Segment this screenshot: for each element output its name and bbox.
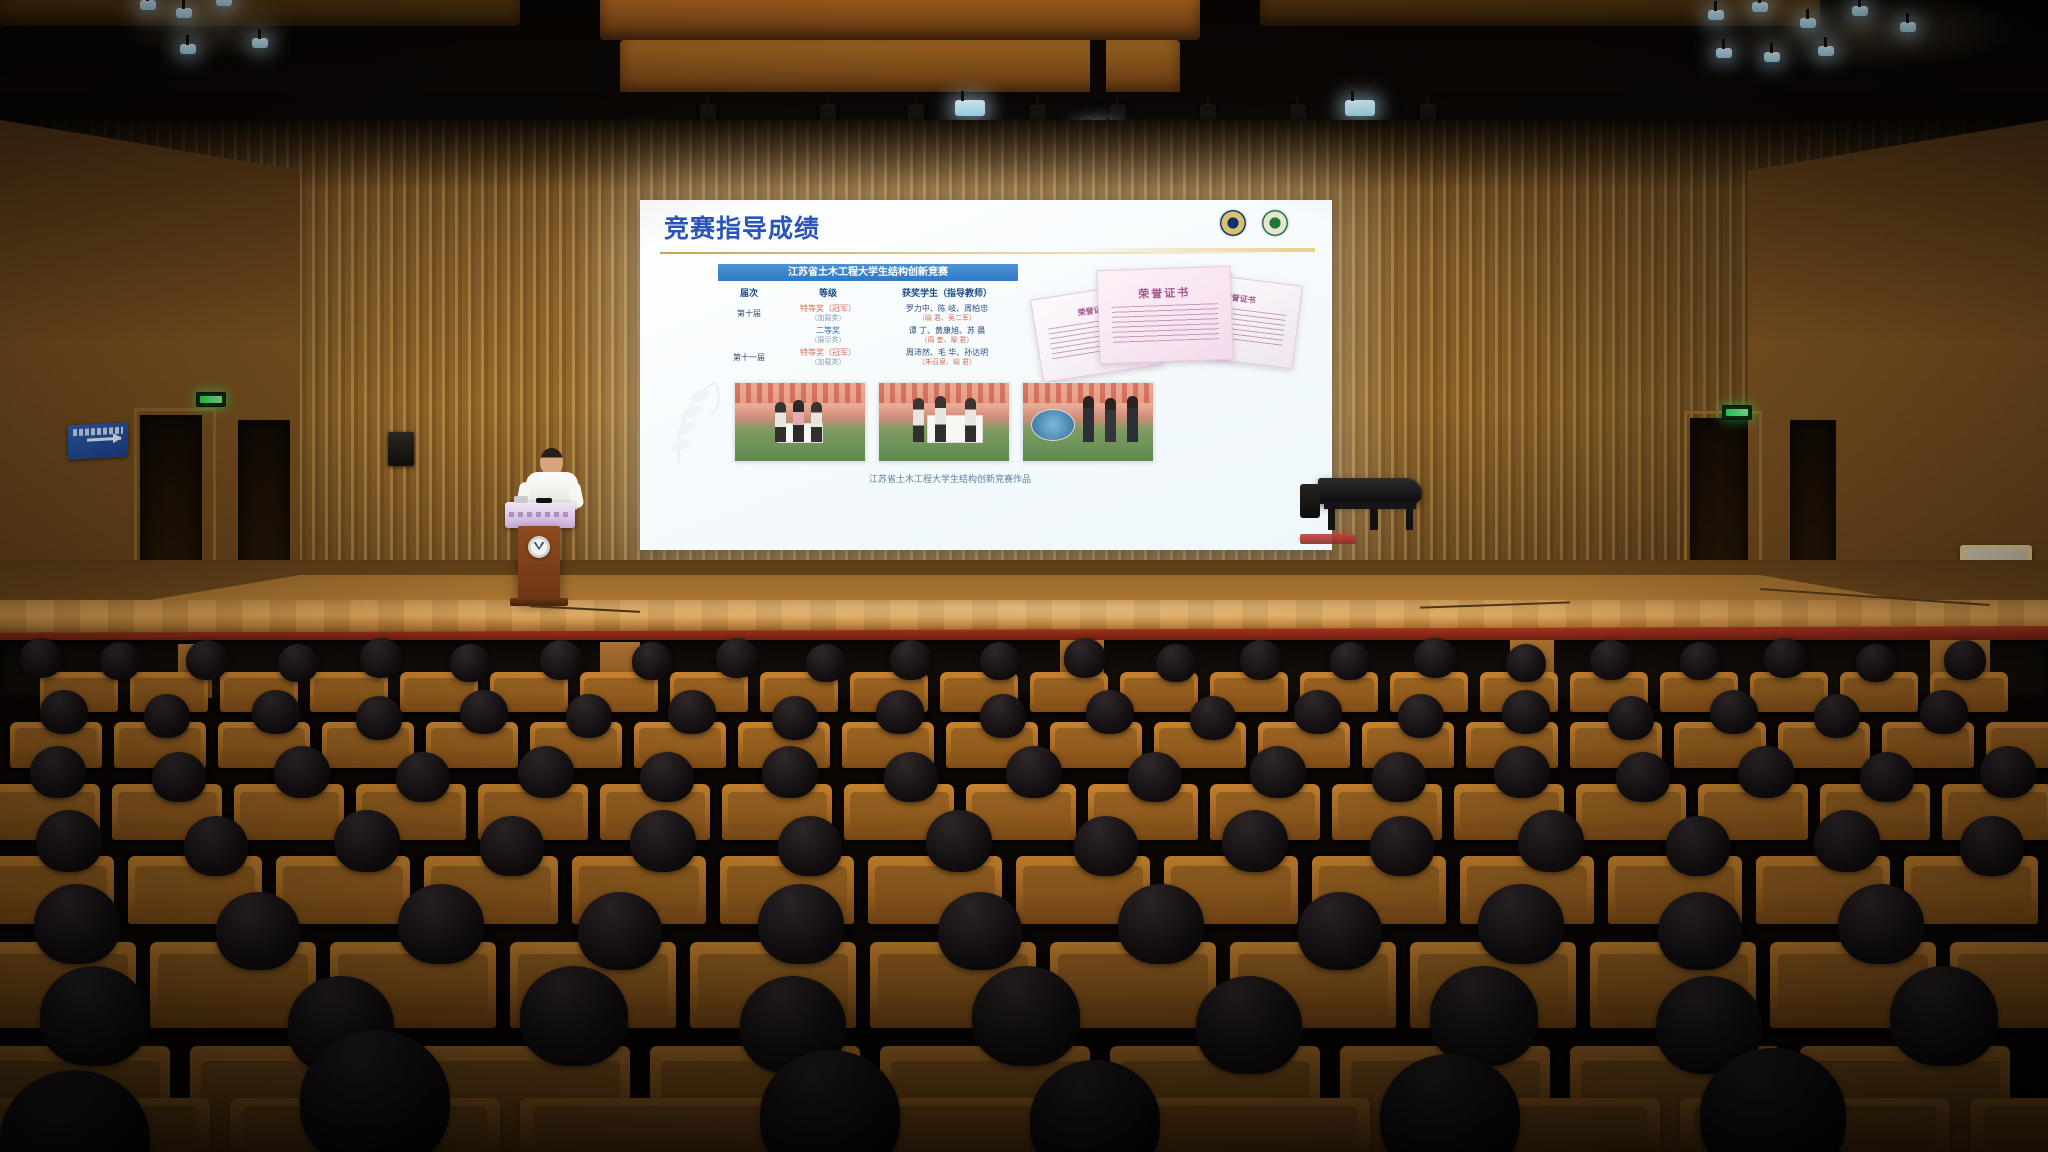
row-students-cell: 谭 丁、黄康旭、苏 晨 （周 奎、喻 君）	[876, 326, 1018, 345]
row-advisors: （朱召泉、喻 君）	[876, 358, 1018, 367]
spotlight-lit	[1345, 100, 1375, 116]
wall-loudspeaker	[388, 432, 414, 466]
projection-screen: 竞赛指导成绩 江苏省土木工程大学生结构创新竞赛 届次 等级 获奖学生（指导教师）…	[640, 200, 1332, 550]
doorway-right-2	[1790, 420, 1836, 578]
table-col-grade: 等级	[780, 285, 876, 301]
certificate-title: 荣誉证书	[1098, 283, 1230, 304]
grand-piano	[1318, 478, 1422, 530]
results-table: 江苏省土木工程大学生结构创新竞赛 届次 等级 获奖学生（指导教师） 第十届 特等…	[718, 264, 1018, 367]
doorway-left-2	[238, 420, 290, 580]
table-banner: 江苏省土木工程大学生结构创新竞赛	[718, 264, 1018, 281]
row-grade-cell: 特等奖（冠军） （加载类）	[780, 304, 876, 323]
row-grade-cell: 二等奖 （展示类）	[780, 326, 876, 345]
certificate-group: 荣誉证书 荣誉证书 荣誉证书	[1036, 266, 1296, 386]
arrow-right-icon	[87, 437, 121, 442]
certificate-lines	[1112, 303, 1219, 343]
row-grade: 特等奖（冠军）	[780, 348, 876, 358]
competition-photo	[734, 382, 866, 462]
auditorium-photo: 竞赛指导成绩 江苏省土木工程大学生结构创新竞赛 届次 等级 获奖学生（指导教师）…	[0, 0, 2048, 1152]
table-header-row: 届次 等级 获奖学生（指导教师）	[718, 285, 1018, 301]
stage-mat	[1300, 534, 1356, 544]
podium-nameplate	[509, 512, 571, 517]
microphone[interactable]	[536, 498, 552, 503]
table-col-students: 获奖学生（指导教师）	[876, 285, 1018, 301]
table-row: 第十届 特等奖（冠军） （加载类） 罗力中、陈 岐、周柏忠 （喻 君、吴二军）	[718, 304, 1018, 323]
title-divider	[660, 252, 1300, 254]
laurel-wreath-icon	[662, 376, 730, 472]
exit-sign	[196, 392, 226, 407]
direction-sign	[68, 422, 128, 459]
row-students: 周沛然、毛 华、孙达明	[876, 348, 1018, 358]
audience-area	[0, 660, 2048, 1152]
photo-caption: 江苏省土木工程大学生结构创新竞赛作品	[700, 472, 1200, 485]
university-seal-icon-blue	[1220, 210, 1246, 236]
presenter-group	[500, 440, 630, 610]
row-category: （加载类）	[780, 314, 876, 323]
presenter-head	[540, 448, 563, 475]
row-category: （加载类）	[780, 358, 876, 367]
podium-top	[505, 502, 575, 528]
spotlight-lit	[955, 100, 985, 116]
laptop[interactable]	[514, 496, 528, 503]
row-grade-cell: 特等奖（冠军） （加载类）	[780, 348, 876, 367]
row-students: 罗力中、陈 岐、周柏忠	[876, 304, 1018, 314]
row-grade: 特等奖（冠军）	[780, 304, 876, 314]
row-students-cell: 罗力中、陈 岐、周柏忠 （喻 君、吴二军）	[876, 304, 1018, 323]
competition-photo	[1022, 382, 1154, 462]
university-seal-icon-green	[1262, 210, 1288, 236]
row-grade: 二等奖	[780, 326, 876, 336]
certificate: 荣誉证书	[1096, 266, 1233, 365]
row-advisors: （周 奎、喻 君）	[876, 336, 1018, 345]
row-advisors: （喻 君、吴二军）	[876, 314, 1018, 323]
title-accent	[1070, 248, 1315, 252]
podium-emblem	[528, 536, 550, 558]
table-col-session: 届次	[718, 285, 780, 301]
row-session: 第十届	[718, 308, 780, 319]
row-students-cell: 周沛然、毛 华、孙达明 （朱召泉、喻 君）	[876, 348, 1018, 367]
row-category: （展示类）	[780, 336, 876, 345]
table-row: 二等奖 （展示类） 谭 丁、黄康旭、苏 晨 （周 奎、喻 君）	[718, 326, 1018, 345]
competition-photo	[878, 382, 1010, 462]
row-students: 谭 丁、黄康旭、苏 晨	[876, 326, 1018, 336]
slide-title: 竞赛指导成绩	[664, 214, 820, 244]
table-row: 第十一届 特等奖（冠军） （加载类） 周沛然、毛 华、孙达明 （朱召泉、喻 君）	[718, 348, 1018, 367]
exit-sign	[1722, 405, 1752, 420]
row-session: 第十一届	[718, 352, 780, 363]
